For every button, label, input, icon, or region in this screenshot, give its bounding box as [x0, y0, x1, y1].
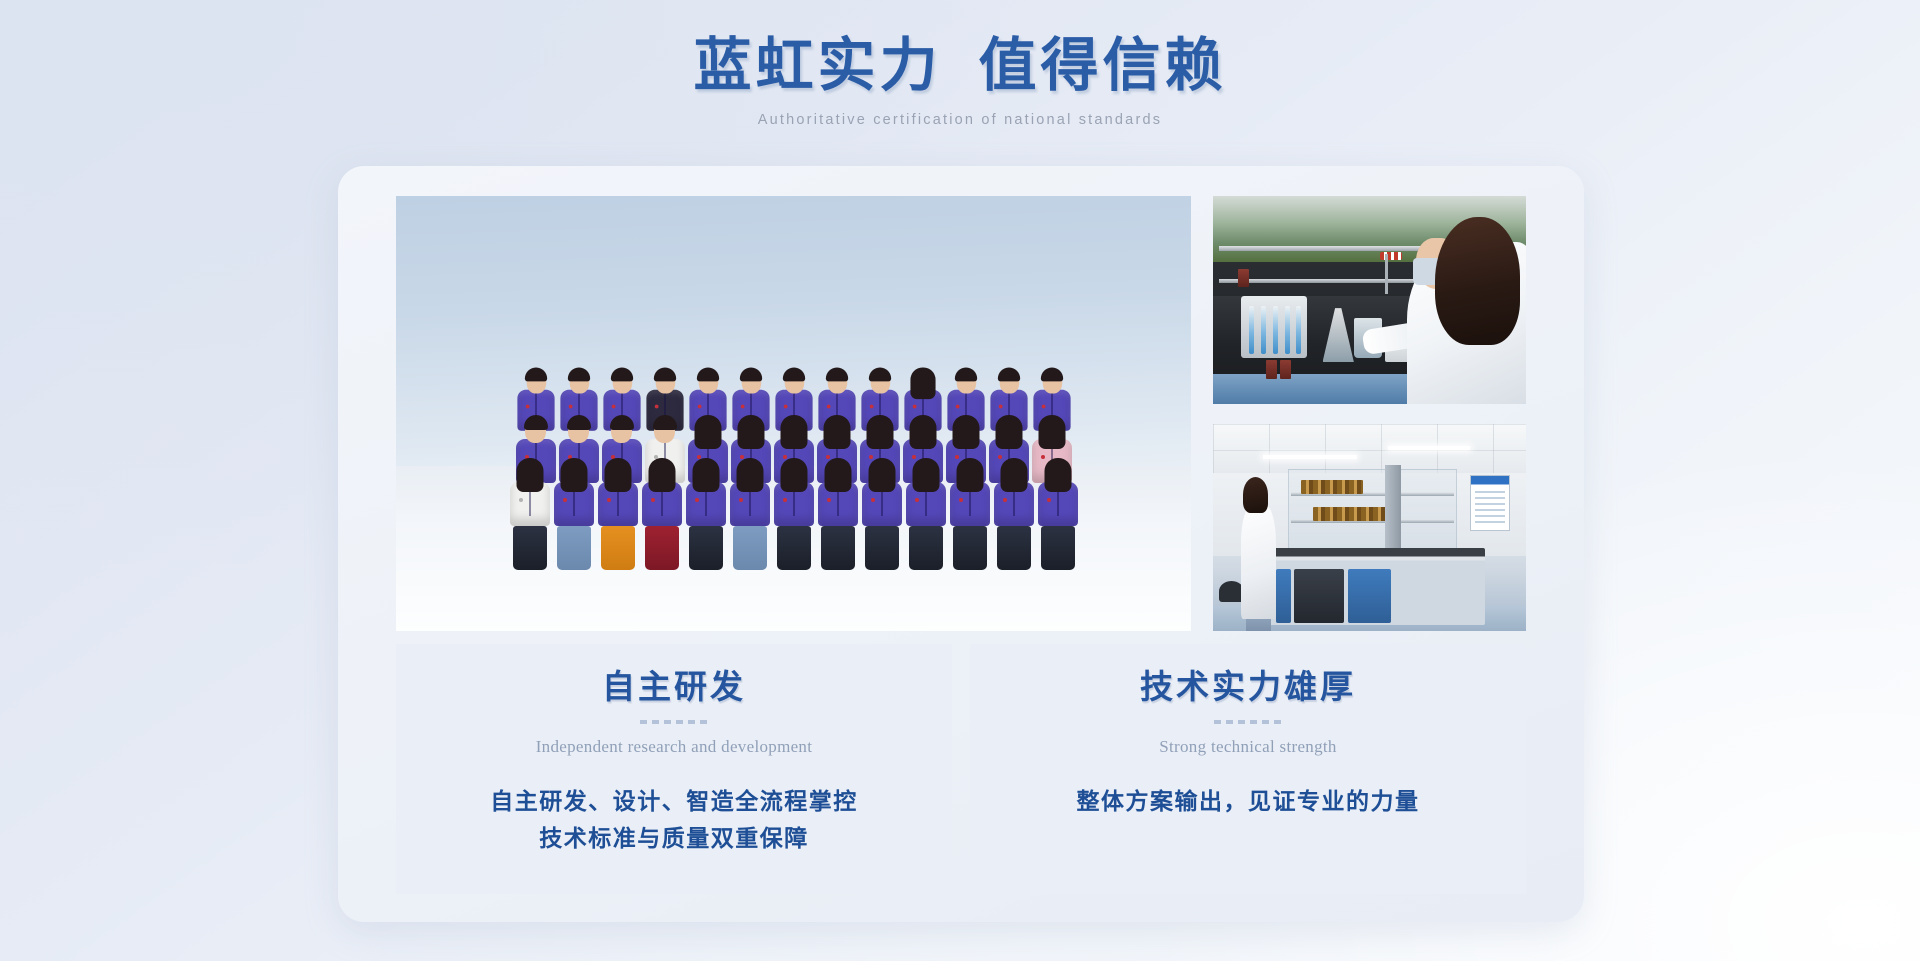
content-panel: 自主研发 Independent research and developmen… — [338, 166, 1584, 922]
page-header: 蓝虹实力 值得信赖 Authoritative certification of… — [0, 0, 1920, 128]
technician-hair — [1435, 217, 1520, 346]
lab-stand-rod — [1385, 254, 1388, 293]
dotted-divider-icon — [640, 720, 708, 724]
lab-photo-technician — [1213, 196, 1526, 404]
lab-photo-room — [1213, 424, 1526, 632]
feature-card-rd: 自主研发 Independent research and developmen… — [396, 644, 952, 894]
safety-poster — [1470, 475, 1511, 531]
lab-clamp-icon — [1380, 252, 1402, 260]
scientist-labcoat — [1241, 504, 1275, 618]
lab-photo-column — [1213, 196, 1526, 631]
group-row-front — [396, 461, 1191, 570]
feature-card-description: 整体方案输出，见证专业的力量 — [970, 783, 1526, 820]
pipette-rack — [1241, 296, 1307, 358]
feature-card-english: Independent research and development — [396, 737, 952, 757]
media-grid — [396, 196, 1526, 631]
page-subtitle: Authoritative certification of national … — [0, 112, 1920, 128]
feature-cards: 自主研发 Independent research and developmen… — [396, 644, 1526, 894]
feature-card-tech: 技术实力雄厚 Strong technical strength 整体方案输出，… — [970, 644, 1526, 894]
feature-card-english: Strong technical strength — [970, 737, 1526, 757]
feature-card-title: 自主研发 — [396, 669, 952, 709]
page-title: 蓝虹实力 值得信赖 — [0, 32, 1920, 100]
team-group-photo — [396, 196, 1191, 631]
lab-ceiling — [1213, 424, 1526, 474]
scientist-hair — [1243, 477, 1268, 512]
dotted-divider-icon — [1214, 720, 1282, 724]
feature-card-title: 技术实力雄厚 — [970, 669, 1526, 709]
feature-card-description: 自主研发、设计、智造全流程掌控 技术标准与质量双重保障 — [396, 783, 952, 858]
